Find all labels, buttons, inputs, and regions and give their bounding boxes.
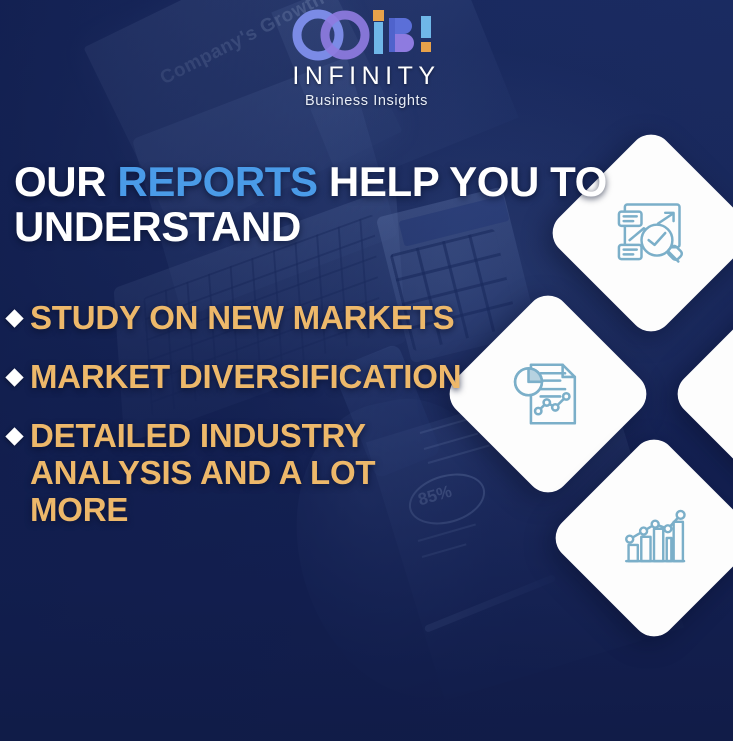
list-item: MARKET DIVERSIFICATION <box>8 359 478 396</box>
brand-logo: INFINITY Business Insights <box>0 8 733 109</box>
diamond-bullet-icon <box>5 427 23 445</box>
diamond-bullet-icon <box>5 309 23 327</box>
growth-bar-chart-icon <box>617 501 691 575</box>
infinity-ib-logo-icon <box>288 8 446 62</box>
list-item-label: DETAILED INDUSTRY ANALYSIS AND A LOT MOR… <box>30 418 478 529</box>
headline-highlight: REPORTS <box>117 158 317 205</box>
list-item-label: MARKET DIVERSIFICATION <box>30 359 461 396</box>
list-item: DETAILED INDUSTRY ANALYSIS AND A LOT MOR… <box>8 418 478 529</box>
list-item-label: STUDY ON NEW MARKETS <box>30 300 454 337</box>
benefits-list: STUDY ON NEW MARKETS MARKET DIVERSIFICAT… <box>8 300 478 551</box>
list-item: STUDY ON NEW MARKETS <box>8 300 478 337</box>
brand-name: INFINITY <box>292 64 440 89</box>
page-title: OUR REPORTS HELP YOU TO UNDERSTAND <box>14 160 614 249</box>
headline-part-1: OUR <box>14 158 117 205</box>
report-document-piechart-icon <box>509 355 587 433</box>
brand-tagline: Business Insights <box>305 94 428 109</box>
promotional-poster: Company's Growth 85% <box>0 0 733 741</box>
diamond-bullet-icon <box>5 368 23 386</box>
market-research-magnifier-icon <box>613 195 689 271</box>
